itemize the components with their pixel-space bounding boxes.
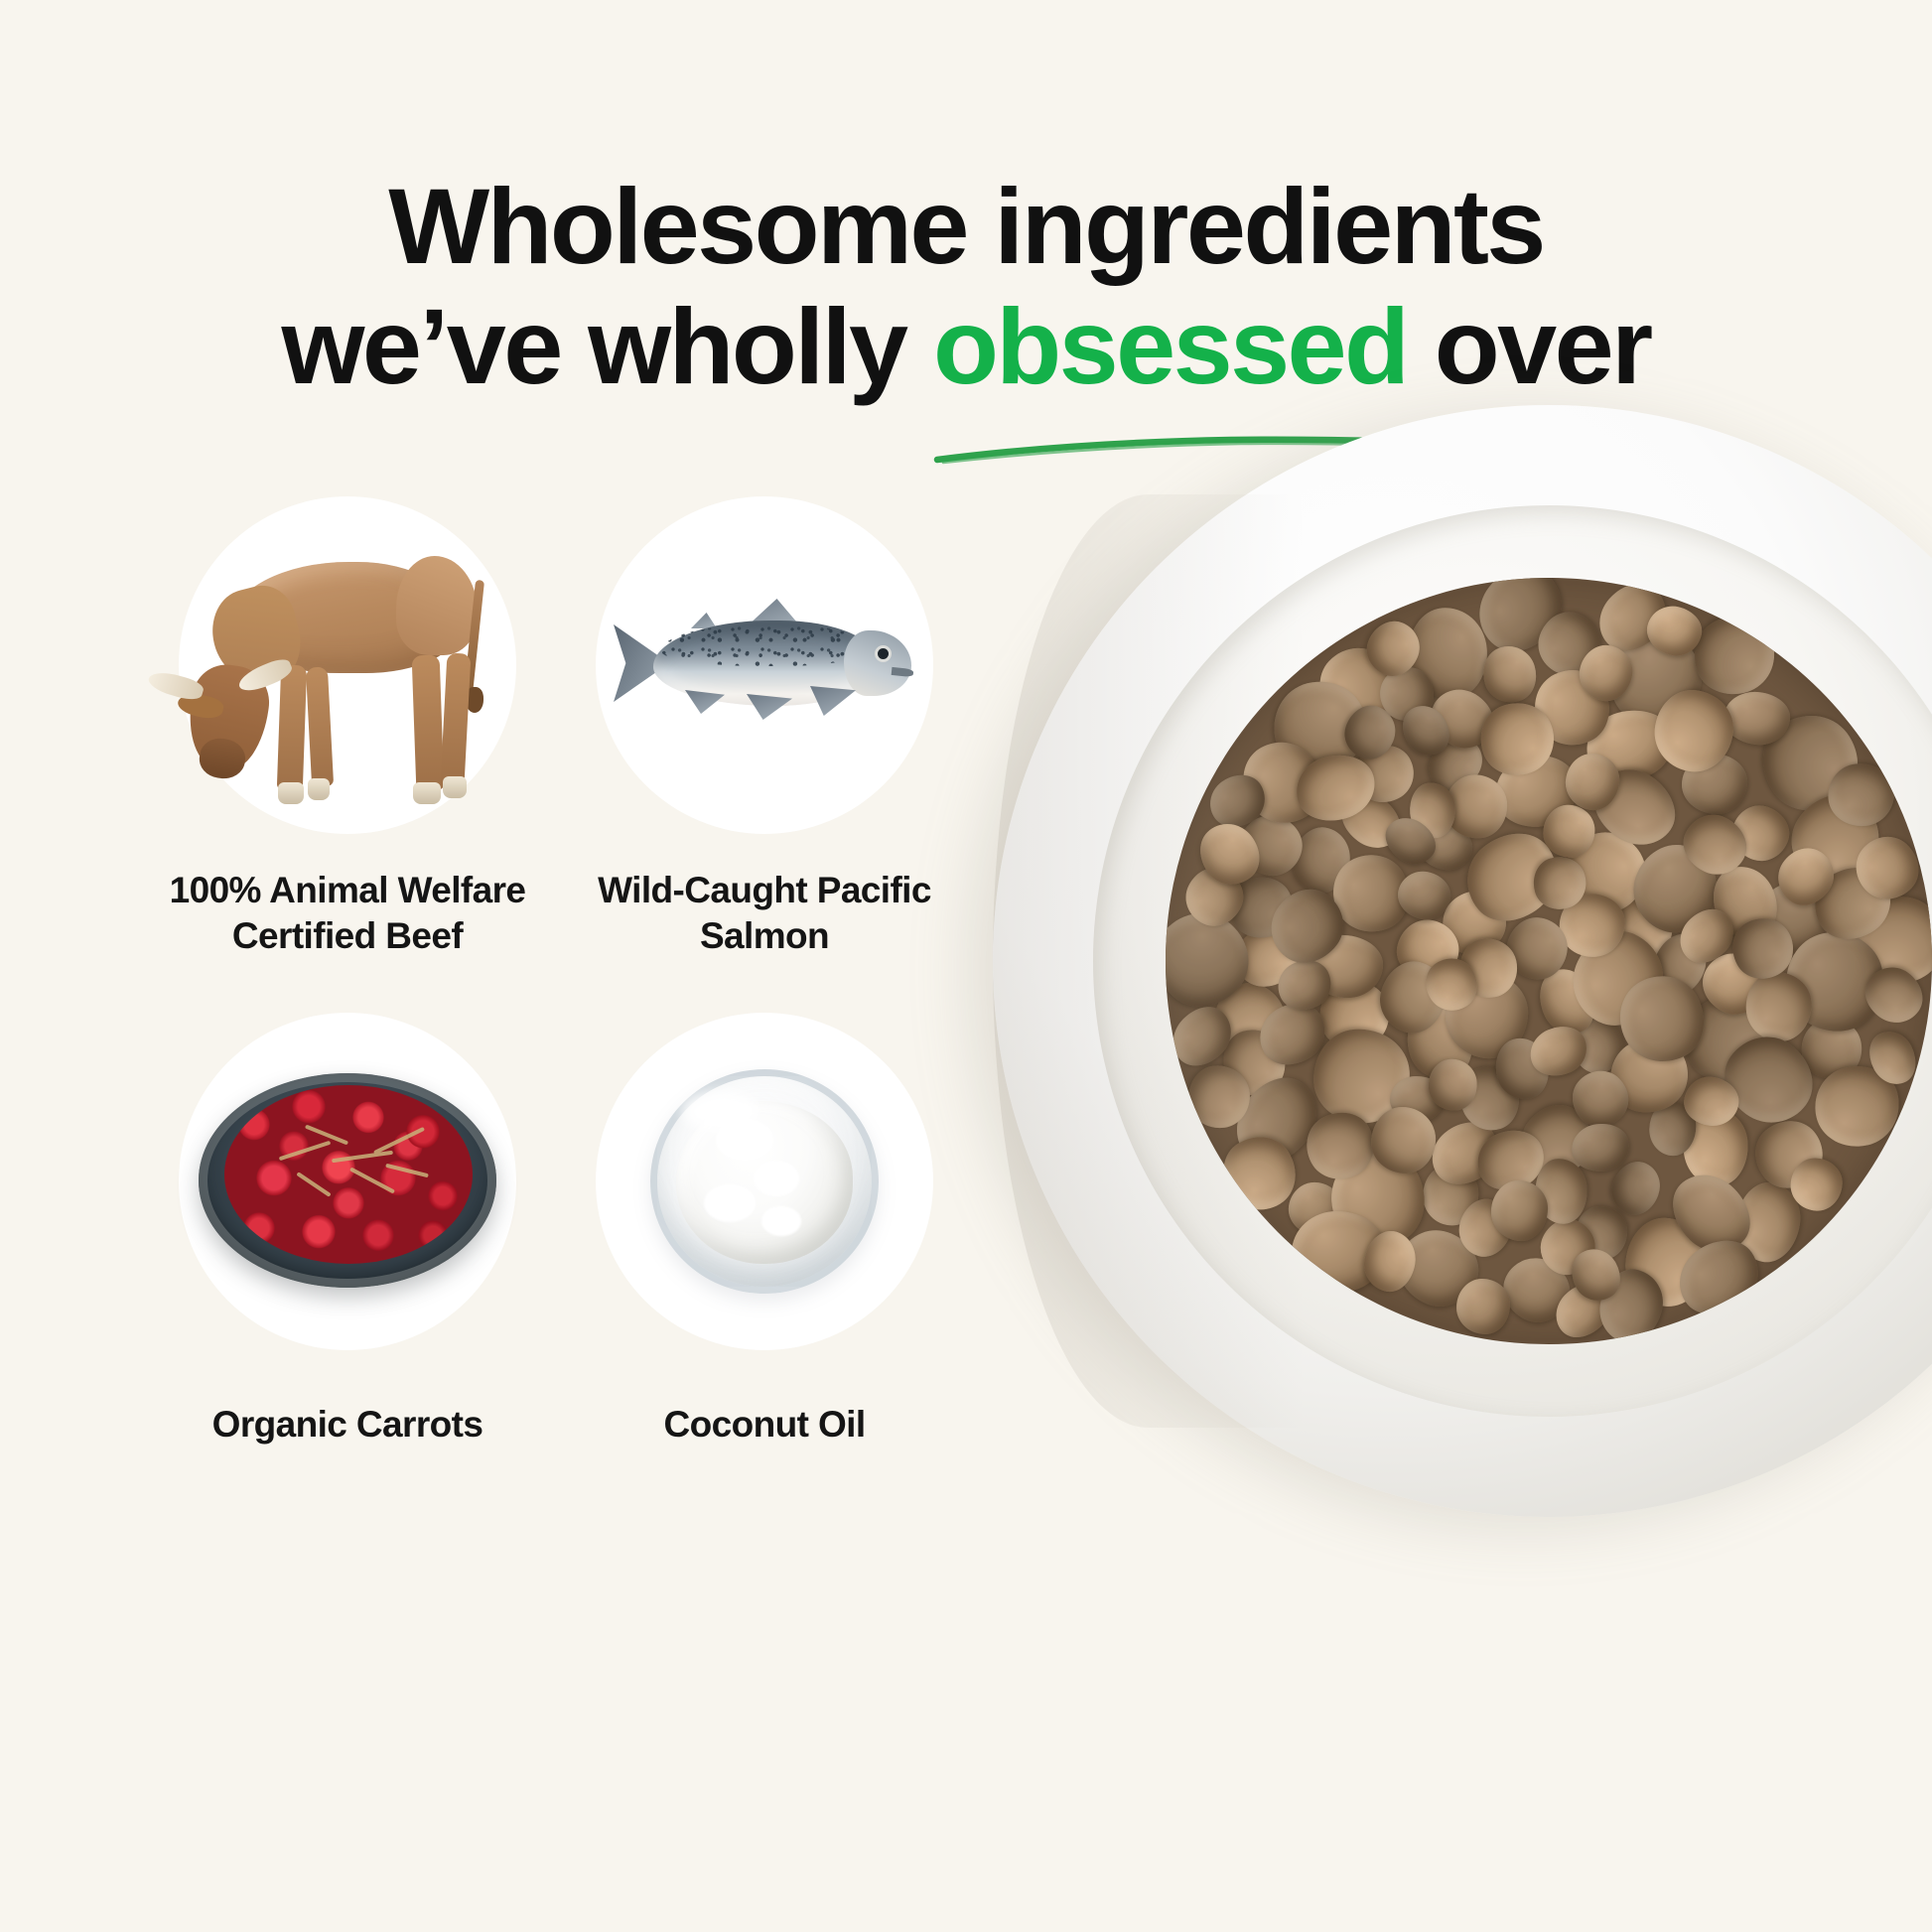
kibble-nugget	[1490, 1179, 1549, 1241]
ingredient-grid: 100% Animal Welfare Certified Beef	[139, 496, 993, 1747]
headline-line-2-after: over	[1407, 286, 1650, 406]
ingredient-image-disc	[179, 1013, 516, 1350]
kibble-nugget	[1790, 1157, 1844, 1211]
ingredient-item-salmon: Wild-Caught Pacific Salmon	[556, 496, 973, 960]
ingredient-label-line-2: Certified Beef	[232, 915, 463, 956]
product-kibble-bowl	[993, 405, 1932, 1517]
berry-bowl-icon	[189, 1057, 506, 1306]
headline-line-1: Wholesome ingredients	[0, 167, 1932, 287]
ingredient-label-line-1: Organic Carrots	[212, 1404, 483, 1445]
ingredient-item-carrots: Organic Carrots	[139, 1013, 556, 1448]
headline-line-2-before: we’ve wholly	[281, 286, 932, 406]
ingredient-label: Wild-Caught Pacific Salmon	[556, 868, 973, 960]
page-title: Wholesome ingredients we’ve wholly obses…	[0, 167, 1932, 407]
ingredient-item-coconut-oil: Coconut Oil	[556, 1013, 973, 1448]
ingredient-label-line-2: Salmon	[700, 915, 829, 956]
ingredient-label-line-1: Coconut Oil	[663, 1404, 865, 1445]
kibble-nugget	[1543, 804, 1594, 857]
ingredient-label: 100% Animal Welfare Certified Beef	[139, 868, 556, 960]
kibble-nugget	[1371, 1107, 1436, 1173]
ingredient-image-disc	[179, 496, 516, 834]
bowl-kibble-well	[1166, 578, 1932, 1345]
ingredient-label: Coconut Oil	[556, 1402, 973, 1448]
ingredient-image-disc	[596, 1013, 933, 1350]
promo-graphic: Wholesome ingredients we’ve wholly obses…	[0, 0, 1932, 1932]
headline-line-2: we’ve wholly obsessed over	[0, 287, 1932, 407]
ingredient-label-line-1: 100% Animal Welfare	[170, 870, 526, 910]
ingredient-item-beef: 100% Animal Welfare Certified Beef	[139, 496, 556, 960]
ingredient-label: Organic Carrots	[139, 1402, 556, 1448]
salmon-fish-icon	[598, 591, 931, 740]
beef-cow-icon	[184, 526, 511, 804]
ingredient-label-line-1: Wild-Caught Pacific	[598, 870, 931, 910]
headline-accent-word: obsessed	[933, 286, 1407, 406]
ingredient-image-disc	[596, 496, 933, 834]
coconut-oil-jar-icon	[634, 1057, 895, 1306]
